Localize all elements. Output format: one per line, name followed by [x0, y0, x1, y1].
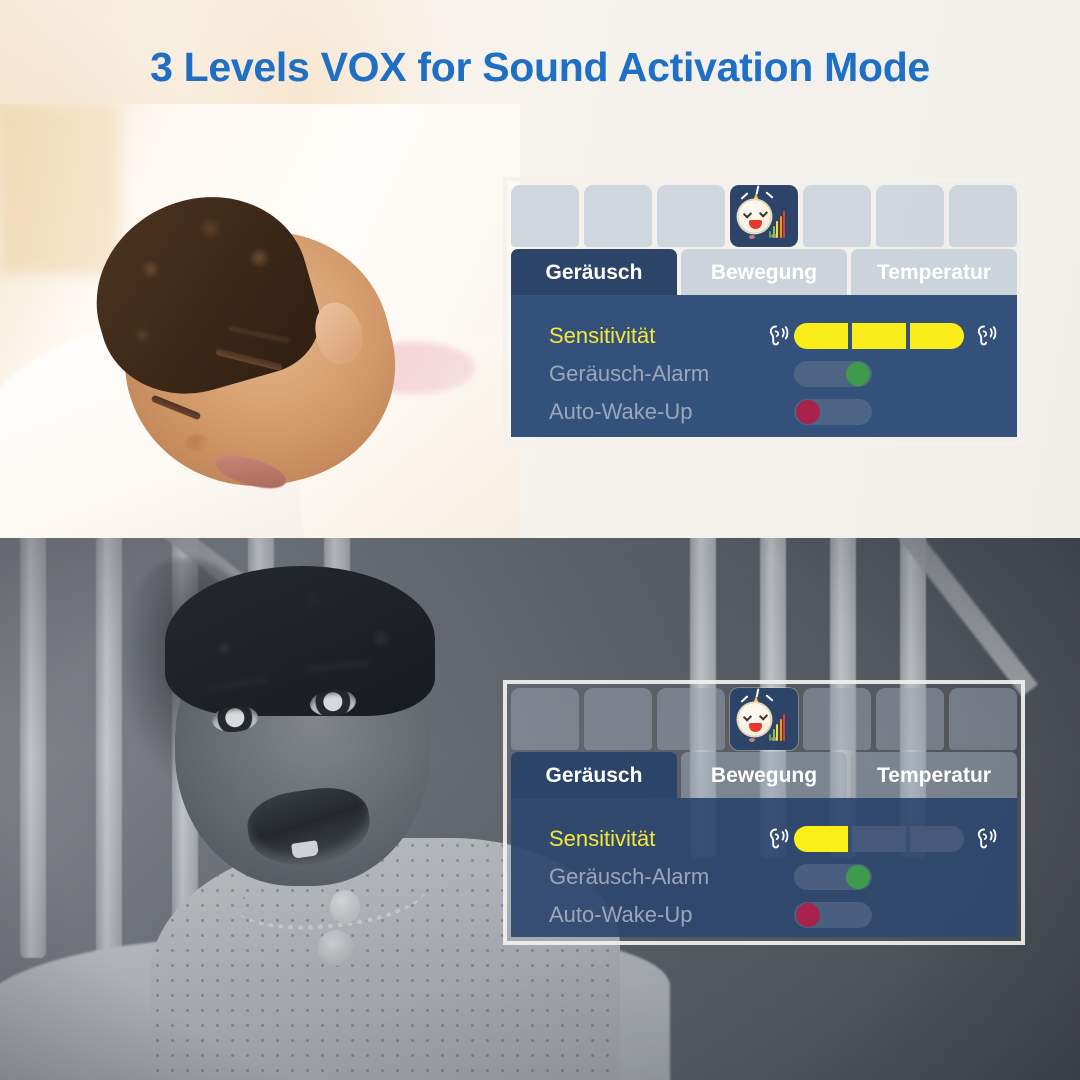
icon-slot-3[interactable]: [657, 688, 725, 750]
page-title: 3 Levels VOX for Sound Activation Mode: [0, 44, 1080, 91]
sound-level-bars: [769, 713, 785, 741]
tab-geraeusch[interactable]: Geräusch: [511, 249, 677, 296]
sparkle-ray: [756, 688, 760, 697]
sparkle-ray: [740, 192, 748, 200]
tab-temperatur[interactable]: Temperatur: [851, 249, 1017, 296]
icon-slot-3[interactable]: [657, 185, 725, 247]
sound-alarm-toggle[interactable]: [794, 361, 872, 387]
toggle-knob: [846, 362, 870, 386]
toggle-knob: [796, 903, 820, 927]
sensitivity-row[interactable]: Sensitivität: [511, 317, 1017, 355]
settings-body: Sensitivität: [511, 295, 1017, 437]
icon-slot-2[interactable]: [584, 688, 652, 750]
tab-bar[interactable]: Geräusch Bewegung Temperatur: [511, 752, 1017, 799]
icon-slot-1[interactable]: [511, 688, 579, 750]
auto-wake-up-toggle[interactable]: [794, 399, 872, 425]
icon-strip[interactable]: [511, 185, 1017, 247]
ear-sound-waves-icon: [764, 826, 790, 852]
top-section: 3 Levels VOX for Sound Activation Mode: [0, 0, 1080, 538]
sensitivity-segment-3[interactable]: [910, 323, 964, 349]
sound-alarm-row[interactable]: Geräusch-Alarm: [511, 355, 1017, 393]
icon-slot-1[interactable]: [511, 185, 579, 247]
cheek-left: [749, 235, 755, 239]
ear-sound-waves-icon: [972, 323, 998, 349]
sensitivity-segment-1[interactable]: [794, 323, 848, 349]
sensitivity-label: Sensitivität: [549, 323, 764, 349]
crying-baby-sound-icon[interactable]: [730, 185, 798, 247]
tab-bewegung[interactable]: Bewegung: [681, 752, 847, 799]
tab-bar[interactable]: Geräusch Bewegung Temperatur: [511, 249, 1017, 296]
vox-panel-low[interactable]: Geräusch Bewegung Temperatur Sensitivitä…: [503, 680, 1025, 945]
ear-sound-waves-icon: [764, 323, 790, 349]
cheek-left: [749, 738, 755, 742]
sound-alarm-row[interactable]: Geräusch-Alarm: [511, 858, 1017, 896]
auto-wake-up-row[interactable]: Auto-Wake-Up: [511, 896, 1017, 934]
auto-wake-up-label: Auto-Wake-Up: [549, 902, 764, 928]
toggle-knob: [846, 865, 870, 889]
sensitivity-segment-2[interactable]: [852, 826, 906, 852]
settings-body: Sensitivität: [511, 798, 1017, 937]
sensitivity-segment-1[interactable]: [794, 826, 848, 852]
sound-alarm-toggle[interactable]: [794, 864, 872, 890]
sensitivity-segments[interactable]: [794, 826, 964, 852]
tab-temperatur[interactable]: Temperatur: [851, 752, 1017, 799]
sensitivity-row[interactable]: Sensitivität: [511, 820, 1017, 858]
icon-slot-7[interactable]: [949, 185, 1017, 247]
icon-slot-7[interactable]: [949, 688, 1017, 750]
vox-panel-high[interactable]: Geräusch Bewegung Temperatur Sensitivitä…: [503, 177, 1025, 445]
bottom-section: Geräusch Bewegung Temperatur Sensitivitä…: [0, 538, 1080, 1080]
auto-wake-up-row[interactable]: Auto-Wake-Up: [511, 393, 1017, 431]
auto-wake-up-toggle[interactable]: [794, 902, 872, 928]
sparkle-ray: [765, 694, 773, 701]
crying-baby-sound-icon[interactable]: [730, 688, 798, 750]
auto-wake-up-label: Auto-Wake-Up: [549, 399, 764, 425]
wall-blur: [0, 104, 120, 274]
sound-level-bars: [769, 210, 785, 238]
baby-nose: [185, 434, 211, 452]
icon-strip[interactable]: [511, 688, 1017, 750]
icon-slot-5[interactable]: [803, 688, 871, 750]
sensitivity-segment-3[interactable]: [910, 826, 964, 852]
sound-alarm-label: Geräusch-Alarm: [549, 361, 764, 387]
sparkle-ray: [740, 695, 748, 703]
tab-geraeusch[interactable]: Geräusch: [511, 752, 677, 799]
icon-slot-5[interactable]: [803, 185, 871, 247]
sensitivity-label: Sensitivität: [549, 826, 764, 852]
sensitivity-segments[interactable]: [794, 323, 964, 349]
icon-slot-2[interactable]: [584, 185, 652, 247]
sensitivity-segment-2[interactable]: [852, 323, 906, 349]
toggle-knob: [796, 400, 820, 424]
tab-bewegung[interactable]: Bewegung: [681, 249, 847, 296]
ear-sound-waves-icon: [972, 826, 998, 852]
sparkle-ray: [756, 185, 760, 194]
icon-slot-6[interactable]: [876, 688, 944, 750]
sparkle-ray: [765, 191, 773, 198]
icon-slot-6[interactable]: [876, 185, 944, 247]
sound-alarm-label: Geräusch-Alarm: [549, 864, 764, 890]
sleeping-baby-photo: [0, 104, 520, 538]
